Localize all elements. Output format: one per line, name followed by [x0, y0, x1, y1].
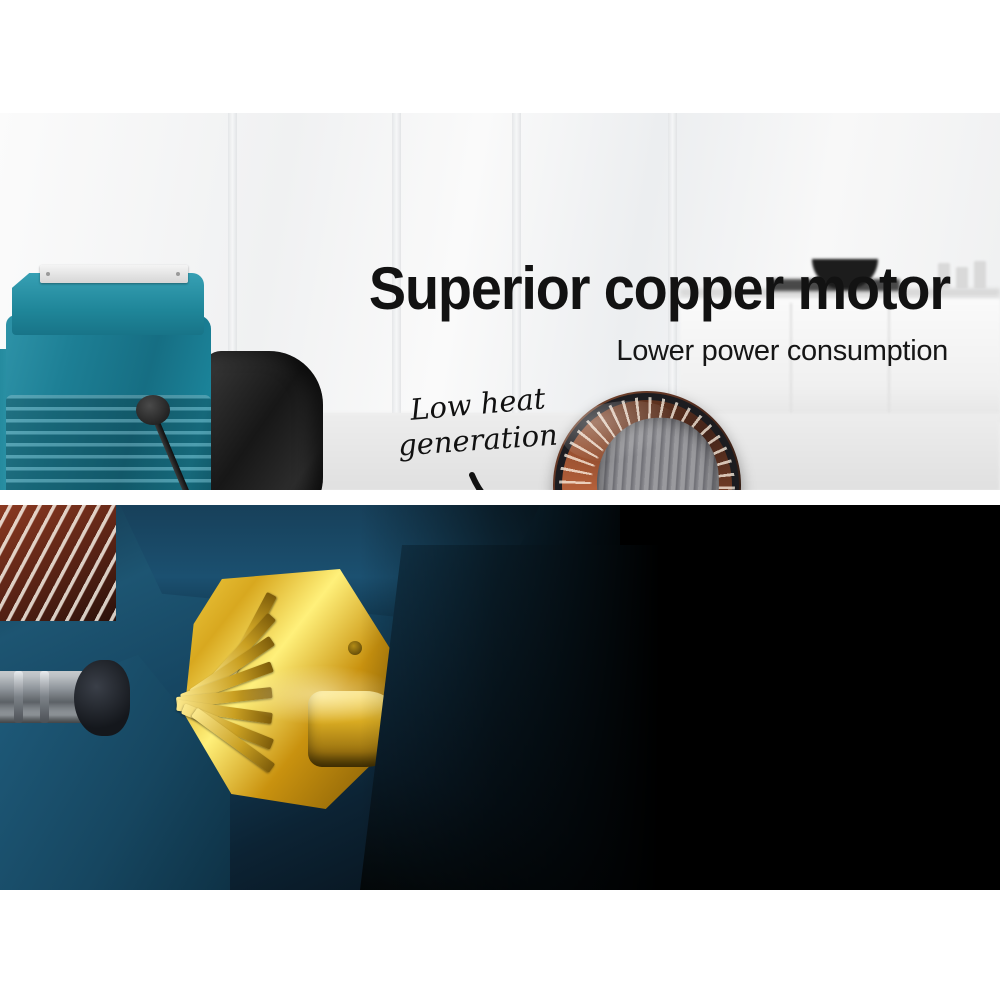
- top-headline: Superior copper motor: [290, 259, 950, 319]
- screw-icon: [176, 272, 180, 276]
- shaft-ring: [40, 671, 49, 723]
- mechanical-seal: [74, 660, 130, 736]
- top-feature-panel: Superior copper motor Lower power consum…: [0, 113, 1000, 490]
- counter-jar: [974, 261, 986, 289]
- pump-motor-product-image: [0, 263, 288, 490]
- fan-cowl: [203, 351, 323, 490]
- pump-body: [6, 315, 211, 490]
- copper-winding-corner: [0, 505, 116, 621]
- photo-fade-to-black: [360, 505, 660, 890]
- counter-jar: [956, 267, 968, 289]
- nameplate: [40, 265, 188, 283]
- brass-impeller-product-image: [0, 505, 620, 890]
- bottom-feature-panel: Brass impeller RUST-RESISTANT ROBUST CON…: [0, 505, 1000, 890]
- shaft-ring: [14, 671, 23, 723]
- curved-arrow-icon: [468, 461, 588, 490]
- product-feature-banner: Superior copper motor Lower power consum…: [0, 0, 1000, 1000]
- cable-grommet: [136, 395, 170, 425]
- screw-icon: [46, 272, 50, 276]
- top-subheadline: Lower power consumption: [340, 335, 948, 368]
